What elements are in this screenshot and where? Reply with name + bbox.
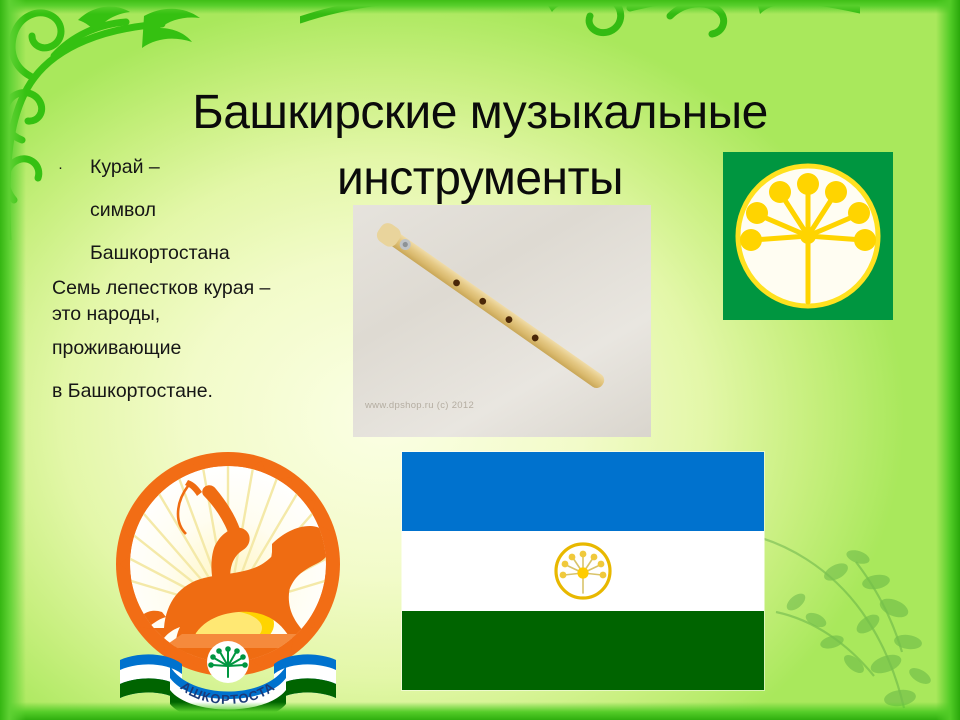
paragraph-line-3: проживающие [52,327,352,370]
kurai-flower-emblem [723,152,893,320]
kurai-flute-photo: www.dpshop.ru (c) 2012 [353,205,651,437]
coat-of-arms-icon: БАШКОРТОСТАН [104,452,352,714]
paragraph-line-4: в Башкортостане. [52,370,352,413]
flag-band-white [402,531,764,610]
coat-sun-rays [104,460,352,670]
flag-kurai-emblem-icon [551,539,615,603]
presentation-slide: Башкирские музыкальные инструменты · Кур… [0,0,960,720]
vine-ornament-top-icon [300,0,860,76]
paragraph-line-1: Семь лепестков курая – [52,275,352,301]
bullet-line-3: Башкортостана [90,232,352,275]
bullet-line-1: Курай – [90,146,352,189]
paragraph-line-2: это народы, [52,301,352,327]
paragraph-block: Семь лепестков курая – это народы, прожи… [52,275,352,413]
photo-watermark: www.dpshop.ru (c) 2012 [365,400,474,411]
title-line-1: Башкирские музыкальные [192,86,768,139]
bashkortostan-coat-of-arms: БАШКОРТОСТАН [104,452,352,714]
foliage-decoration-icon [736,412,946,712]
bullet-line-2: символ [90,189,352,232]
bullet-item: · Курай – символ Башкортостана [52,146,352,275]
bullet-marker: · [52,146,90,189]
coat-kurai-flower [207,641,249,683]
flag-band-green [402,611,764,690]
bullet-text: Курай – символ Башкортостана [90,146,352,275]
kurai-flower-emblem-icon [723,152,893,320]
body-text-block: · Курай – символ Башкортостана Семь лепе… [52,146,352,413]
flag-band-blue [402,452,764,531]
bashkortostan-flag [402,452,764,690]
